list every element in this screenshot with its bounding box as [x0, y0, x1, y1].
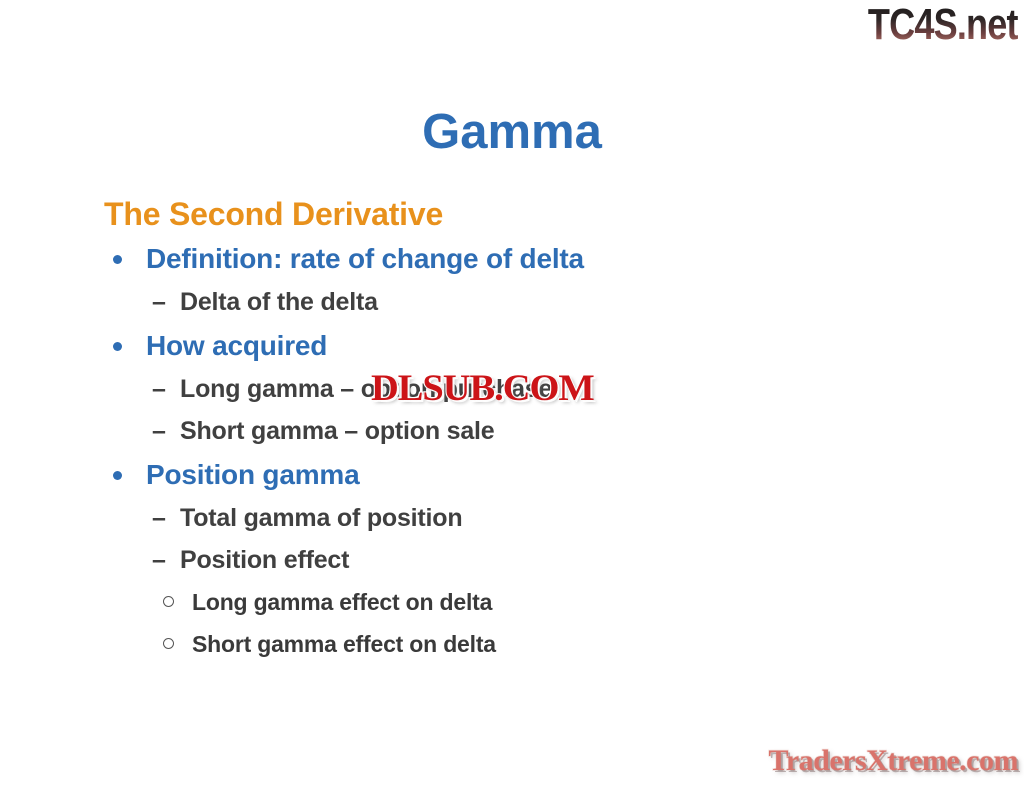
- bullet-dot-icon: [113, 255, 122, 264]
- bullet-label: How acquired: [146, 330, 327, 361]
- bullet-label: Position effect: [180, 546, 349, 574]
- bullet-label: Position gamma: [146, 459, 359, 490]
- bullet-label: Total gamma of position: [180, 504, 462, 532]
- bullet-item-level2: – Position effect: [142, 539, 894, 581]
- dlsub-watermark: DLSUB.COM: [371, 370, 594, 407]
- tradersxtreme-logo: TradersXtreme.com: [769, 745, 1018, 777]
- bullet-item-level1: How acquired: [104, 323, 894, 368]
- bullet-dash-icon: –: [152, 368, 166, 410]
- bullet-item-level2: – Delta of the delta: [142, 281, 894, 323]
- subheading: The Second Derivative: [104, 194, 894, 234]
- bullet-dot-icon: [113, 471, 122, 480]
- bullet-item-level3: Long gamma effect on delta: [154, 581, 894, 623]
- bullet-circle-icon: [163, 638, 174, 649]
- bullet-dash-icon: –: [152, 281, 166, 323]
- bullet-label: Delta of the delta: [180, 288, 378, 316]
- tc4s-logo: TC4S.net: [868, 2, 1018, 48]
- bullet-list-level2: – Total gamma of position – Position eff…: [104, 497, 894, 665]
- bullet-item-level1: Position gamma: [104, 452, 894, 497]
- bullet-label: Short gamma effect on delta: [192, 631, 496, 657]
- bullet-item-level2: – Short gamma – option sale: [142, 410, 894, 452]
- bullet-label: Definition: rate of change of delta: [146, 243, 584, 274]
- slide-body: The Second Derivative Definition: rate o…: [104, 194, 894, 665]
- bullet-list-level2: – Delta of the delta: [104, 281, 894, 323]
- bullet-item-level2: – Total gamma of position: [142, 497, 894, 539]
- bullet-list-level1: Definition: rate of change of delta – De…: [104, 236, 894, 665]
- bullet-dash-icon: –: [152, 497, 166, 539]
- bullet-dash-icon: –: [152, 539, 166, 581]
- bullet-label: Long gamma effect on delta: [192, 589, 492, 615]
- bullet-list-level3: Long gamma effect on delta Short gamma e…: [104, 581, 894, 665]
- bullet-item-level1: Definition: rate of change of delta: [104, 236, 894, 281]
- page-title: Gamma: [0, 104, 1024, 160]
- slide-canvas: TC4S.net Gamma The Second Derivative Def…: [0, 0, 1024, 791]
- bullet-circle-icon: [163, 596, 174, 607]
- bullet-label: Short gamma – option sale: [180, 417, 495, 445]
- bullet-dot-icon: [113, 342, 122, 351]
- bullet-item-level3: Short gamma effect on delta: [154, 623, 894, 665]
- bullet-dash-icon: –: [152, 410, 166, 452]
